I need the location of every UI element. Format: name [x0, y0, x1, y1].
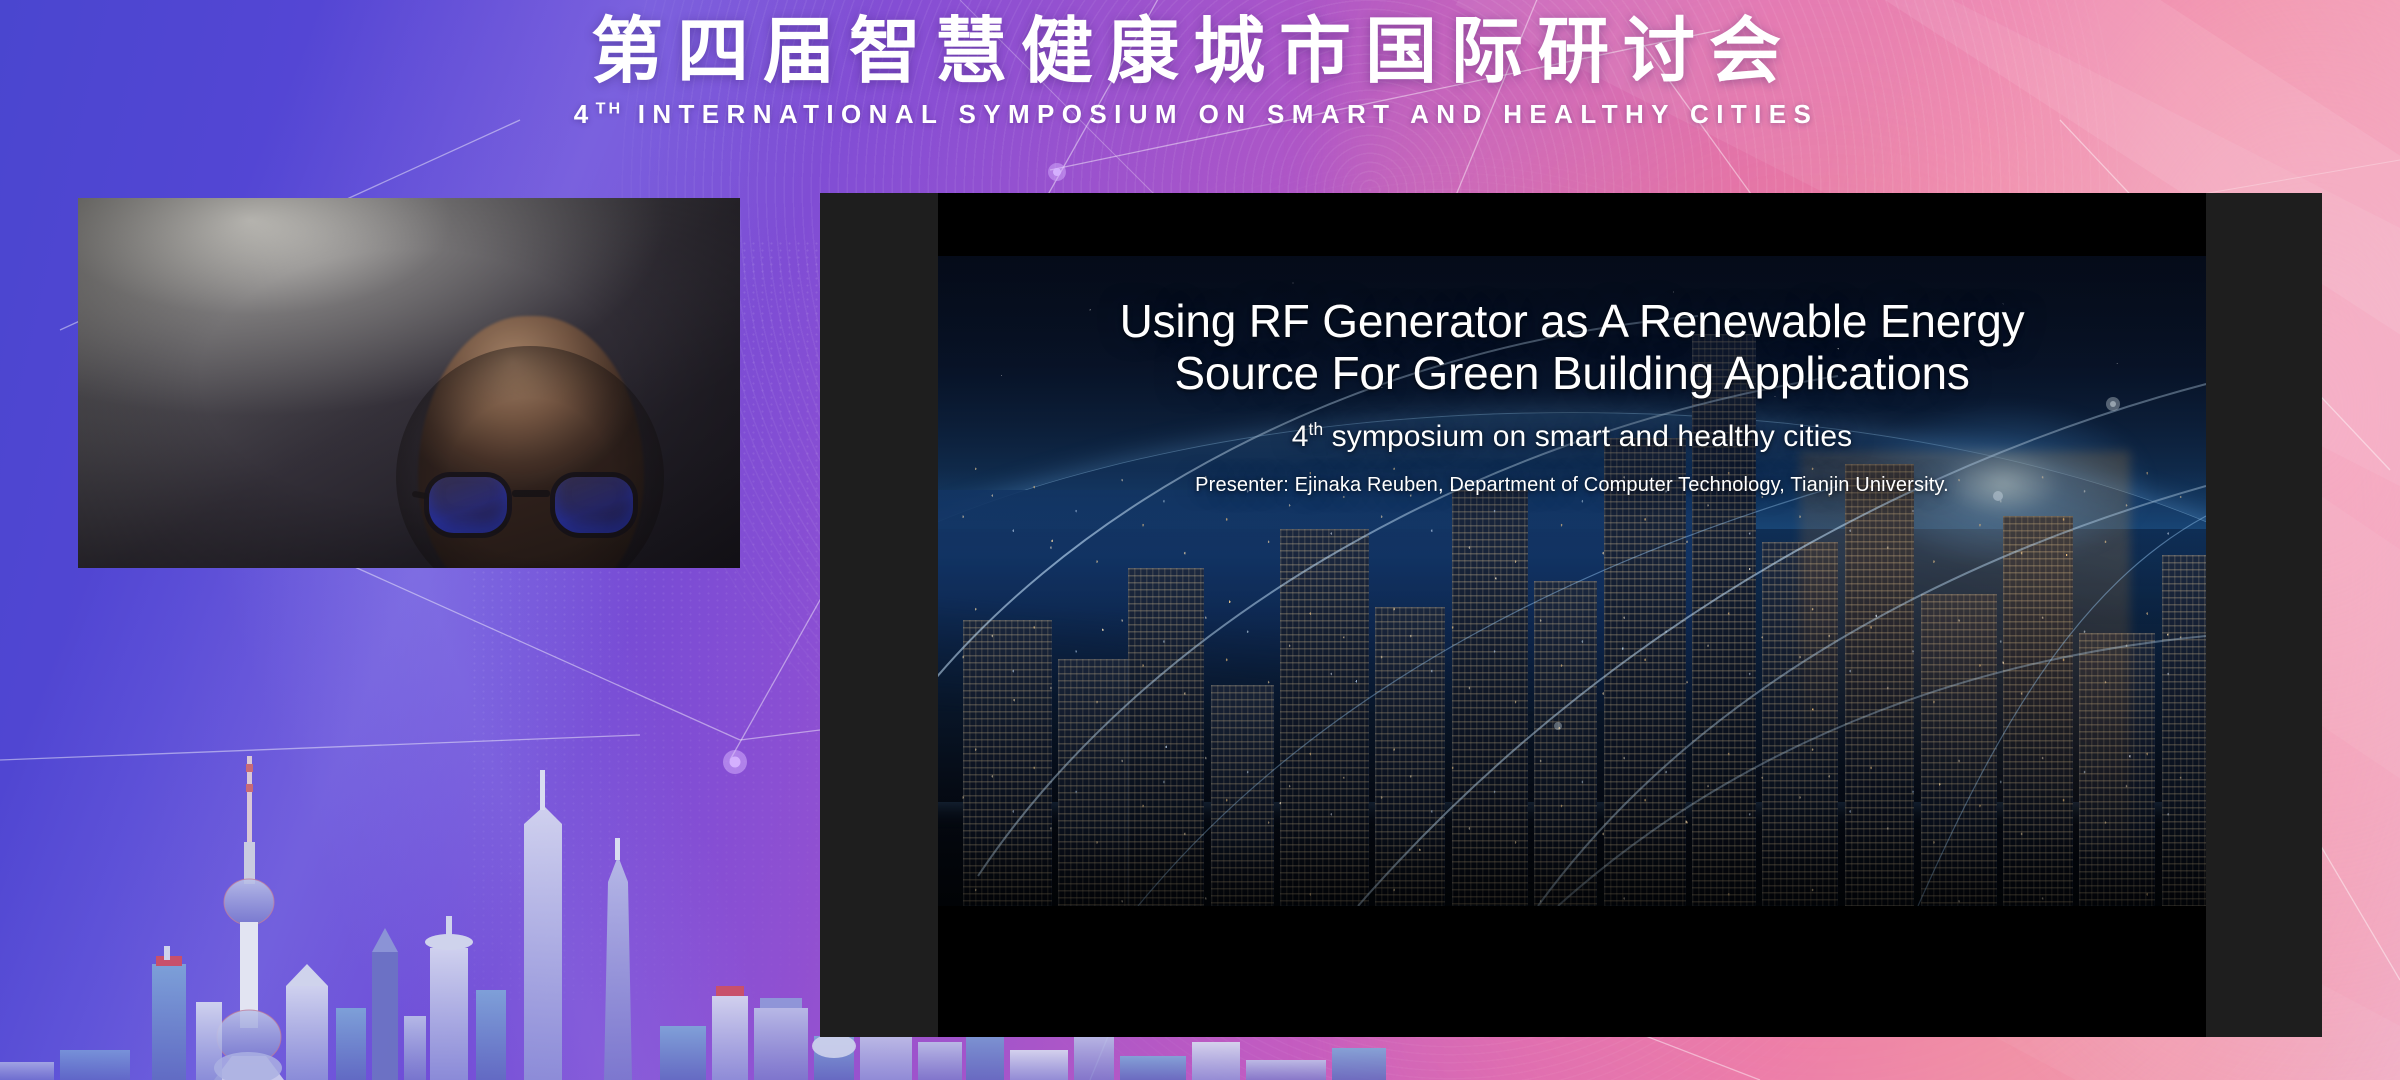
presenter-video-tile[interactable]	[78, 198, 740, 568]
slide-subtitle: 4th symposium on smart and healthy citie…	[938, 419, 2206, 454]
screen-share-panel[interactable]: Using RF Generator as A Renewable Energy…	[820, 193, 2322, 1037]
slide-presenter-line: Presenter: Ejinaka Reuben, Department of…	[938, 474, 2206, 497]
slide-subtitle-ordinal: th	[1309, 419, 1324, 439]
slide-subtitle-number: 4	[1292, 420, 1309, 453]
slide-text-block: Using RF Generator as A Renewable Energy…	[938, 256, 2206, 497]
slide-title: Using RF Generator as A Renewable Energy…	[938, 256, 2206, 399]
webcam-vignette	[78, 198, 740, 568]
conference-stage: 第四届智慧健康城市国际研讨会 4TH INTERNATIONAL SYMPOSI…	[0, 0, 2400, 1080]
presentation-slide[interactable]: Using RF Generator as A Renewable Energy…	[938, 193, 2206, 1037]
slide-title-line-2: Source For Green Building Applications	[996, 348, 2148, 400]
slide-subtitle-rest: symposium on smart and healthy cities	[1323, 420, 1852, 453]
slide-title-line-1: Using RF Generator as A Renewable Energy	[996, 296, 2148, 348]
